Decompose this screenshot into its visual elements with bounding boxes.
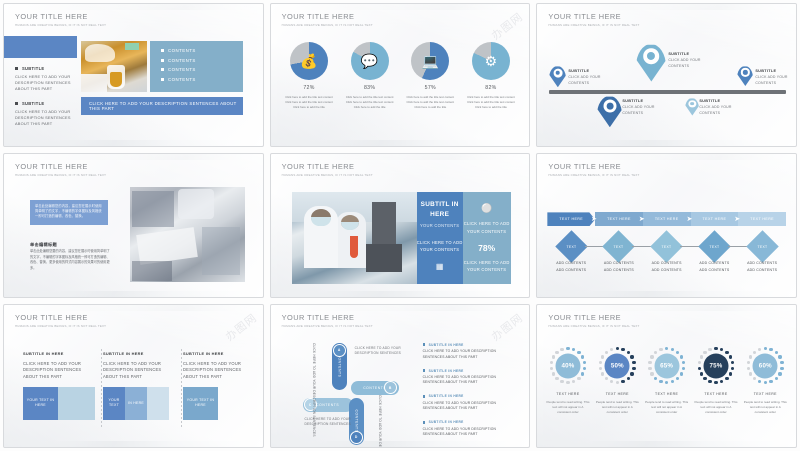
process-step-band[interactable]: TEXT HERE (691, 212, 739, 226)
pin-heading: SUBTITLE (668, 52, 714, 56)
panel-body-top: CLICK HERE TO ADD YOUR CONTENTS (463, 220, 511, 235)
progress-dot (659, 380, 662, 383)
pin-heading: SUBTITLE (622, 99, 668, 103)
quote-text: 单击此处编辑您的内容，建议您在展示时使用简单明了的文字，不编辑的字体图标及风格统… (35, 204, 103, 219)
donut-ring: 75% (697, 347, 735, 385)
donut-heading: TEXT HERE (741, 392, 789, 396)
title-text: YOUR TITLE HERE (548, 12, 639, 21)
pin-body: CLICK ADD YOUR CONTENTS (699, 105, 745, 116)
block-heading: SUBTITLE IN HERE (423, 369, 511, 373)
progress-dot (550, 361, 553, 364)
step-caption: ADD CONTENTSADD CONTENTS (738, 260, 786, 273)
progress-dot (749, 355, 752, 358)
pin-body: CLICK ADD YOUR CONTENTS (568, 75, 614, 86)
knob-label: D (355, 435, 357, 439)
progress-dot (780, 361, 783, 364)
left-text-blocks: SUBTITLE CLICK HERE TO ADD YOUR DESCRIPT… (15, 66, 77, 127)
donut-stat-item[interactable]: 60%TEXT HEREPeople tend to read writing.… (741, 347, 789, 415)
map-pin-icon[interactable] (549, 66, 566, 87)
chat-bubble-icon: 💬 (351, 42, 389, 80)
page-title: YOUR TITLE HERE HUMANS ARE CREATIVE BEIN… (15, 12, 106, 27)
progress-dot (659, 348, 662, 351)
progress-dot (583, 367, 586, 370)
progress-dot (775, 351, 778, 354)
subtitle-text: HUMANS ARE CREATIVE BEINGS, IF IT IS NOT… (15, 23, 106, 27)
content-column: SUBTITLE IN HERECLICK HERE TO ADD YOUR D… (23, 351, 95, 420)
diamond-node[interactable]: TEXT (643, 234, 691, 258)
donut-stat-item[interactable]: 65%TEXT HEREPeople tend to read writing.… (643, 347, 691, 415)
list-item[interactable]: CONTENTS (168, 67, 243, 72)
panel-subtitle: YOUR CONTENTS (420, 223, 459, 228)
slide-7[interactable]: YOUR TITLE HERE HUMANS ARE CREATIVE BEIN… (3, 304, 264, 448)
slide-3[interactable]: YOUR TITLE HERE HUMANS ARE CREATIVE BEIN… (536, 3, 797, 147)
pie-description: Click here to add the title text content… (279, 95, 339, 109)
progress-dot (753, 351, 756, 354)
progress-dot (648, 361, 651, 364)
progress-dot (621, 380, 624, 383)
donut-percent: 40% (561, 362, 574, 369)
progress-dot (729, 355, 732, 358)
progress-dot (680, 355, 683, 358)
panel-body: CLICK HERE TO ADD YOUR CONTENTS (417, 239, 463, 253)
step-caption: ADD CONTENTSADD CONTENTS (643, 260, 691, 273)
donut-percent: 60% (759, 362, 772, 369)
watermark: 办图网 (488, 309, 526, 344)
step-caption: ADD CONTENTSADD CONTENTS (547, 260, 595, 273)
tile-row: YOUR TEXT IN HERE (183, 387, 255, 420)
progress-dot (650, 372, 653, 375)
pie-chart: 💻 (411, 42, 449, 80)
progress-dot (599, 367, 602, 370)
right-text-blocks: SUBTITLE IN HERE CLICK HERE TO ADD YOUR … (423, 343, 511, 447)
donut-percent: 65% (660, 362, 673, 369)
progress-dot (700, 372, 703, 375)
caption-line: ADD CONTENTS (595, 267, 643, 273)
progress-dot (720, 348, 723, 351)
progress-dot (731, 361, 734, 364)
progress-dot (680, 372, 683, 375)
pie-stat-item[interactable]: 💬83%Click here to add the title text con… (340, 42, 400, 109)
column-body: CLICK HERE TO ADD YOUR DESCRIPTION SENTE… (103, 361, 175, 381)
panel-body-bottom: CLICK HERE TO ADD YOUR CONTENTS (463, 259, 511, 274)
pie-description: Click here to add the title text content… (461, 95, 521, 109)
description-banner[interactable]: CLICK HERE TO ADD YOUR DESCRIPTION SENTE… (81, 97, 243, 115)
progress-dot (769, 380, 772, 383)
pie-stat-item[interactable]: 💰72%Click here to add the title text con… (279, 42, 339, 109)
progress-dot (708, 348, 711, 351)
block-body: CLICK HERE TO ADD YOUR DESCRIPTION SENTE… (15, 109, 77, 127)
arrow-right-icon: ➤ (639, 215, 645, 223)
donut-ring: 60% (746, 347, 784, 385)
process-band: TEXT HERE➤TEXT HERE➤TEXT HERE➤TEXT HERE➤… (547, 212, 786, 226)
progress-dot (621, 348, 624, 351)
pin-heading: SUBTITLE (699, 99, 745, 103)
pie-percent: 82% (461, 85, 521, 91)
list-item[interactable]: CONTENTS (168, 77, 243, 82)
progress-dot (753, 377, 756, 380)
progress-dot (555, 377, 558, 380)
lightbulb-icon: ⚪ (481, 203, 492, 214)
text-tile[interactable]: YOUR TEXT IN HERE (183, 387, 218, 420)
pill-knob-a[interactable]: A (333, 344, 346, 357)
page-title: YOUR TITLE HERE HUMANS ARE CREATIVE BEIN… (15, 162, 106, 177)
block-body: CLICK HERE TO ADD YOUR DESCRIPTION SENTE… (423, 375, 511, 386)
progress-dot (581, 372, 584, 375)
head-gear-icon: ⚙ (472, 42, 510, 80)
donut-heading: TEXT HERE (692, 392, 740, 396)
progress-dot (566, 381, 569, 384)
map-pin-icon[interactable] (685, 98, 699, 116)
caption-line: ADD CONTENTS (547, 267, 595, 273)
progress-dot (572, 380, 575, 383)
progress-dot (610, 380, 613, 383)
progress-dot (632, 367, 635, 370)
subtitle-text: HUMANS ARE CREATIVE BEINGS, IF IT IS NOT… (548, 324, 639, 328)
progress-dot (714, 347, 717, 350)
page-title: YOUR TITLE HERE HUMANS ARE CREATIVE BEIN… (282, 162, 373, 177)
donut-heading: TEXT HERE (643, 392, 691, 396)
block-heading: SUBTITLE IN HERE (423, 394, 511, 398)
lab-photo (81, 41, 147, 92)
page-title: YOUR TITLE HERE HUMANS ARE CREATIVE BEIN… (548, 313, 639, 328)
subtitle-text: HUMANS ARE CREATIVE BEINGS, IF IT IS NOT… (548, 23, 639, 27)
money-bag-icon: 💰 (290, 42, 328, 80)
block-heading: SUBTITLE IN HERE (423, 420, 511, 424)
progress-dot (616, 347, 619, 350)
progress-dot (601, 372, 604, 375)
band-label: TEXT HERE (655, 217, 679, 221)
knob-label: A (338, 348, 340, 352)
progress-dot (671, 348, 674, 351)
subtitle-text: HUMANS ARE CREATIVE BEINGS, IF IT IS NOT… (282, 324, 373, 328)
section-body: 单击此处编辑您要的内容，建议您在展示时使用简单明了的文字，不编辑的字体图标及风格… (30, 249, 110, 271)
page-title: YOUR TITLE HERE HUMANS ARE CREATIVE BEIN… (548, 12, 639, 27)
progress-dot (610, 348, 613, 351)
donut-stat-item[interactable]: 75%TEXT HEREPeople tend to read writing.… (692, 347, 740, 415)
pin-heading: SUBTITLE (568, 69, 614, 73)
map-pin-icon[interactable] (597, 96, 622, 127)
pie-stat-item[interactable]: ⚙82%Click here to add the title text con… (461, 42, 521, 109)
list-item[interactable]: CONTENTS (168, 48, 243, 53)
diamond-node[interactable]: TEXT (547, 234, 595, 258)
progress-dot (682, 367, 685, 370)
donut-heading: TEXT HERE (544, 392, 592, 396)
donut-body: People tend to read writing. This text w… (593, 400, 641, 415)
secondary-panel: ⚪ CLICK HERE TO ADD YOUR CONTENTS 78% CL… (463, 192, 511, 284)
callout-horizontal-1: CLICK HERE TO ADD YOUR DESCRIPTION SENTE… (355, 346, 421, 356)
subtitle-text: HUMANS ARE CREATIVE BEINGS, IF IT IS NOT… (15, 324, 106, 328)
donut-percent: 75% (709, 362, 722, 369)
progress-dot (616, 381, 619, 384)
laptop-icon: 💻 (411, 42, 449, 80)
list-item[interactable]: CONTENTS (168, 58, 243, 63)
pie-chart: 💬 (351, 42, 389, 80)
progress-dot (665, 381, 668, 384)
diamond-label: TEXT (662, 244, 672, 248)
pin-body: CLICK ADD YOUR CONTENTS (622, 105, 668, 116)
progress-dot (581, 355, 584, 358)
progress-dot (665, 347, 668, 350)
diamond-node[interactable]: TEXT (595, 234, 643, 258)
page-title: YOUR TITLE HERE HUMANS ARE CREATIVE BEIN… (548, 162, 639, 177)
column-body: CLICK HERE TO ADD YOUR DESCRIPTION SENTE… (23, 361, 95, 381)
title-text: YOUR TITLE HERE (282, 313, 373, 322)
column-heading: SUBTITLE IN HERE (23, 351, 95, 356)
progress-dot (729, 372, 732, 375)
text-tile[interactable]: YOUR TEXT IN HERE (23, 387, 58, 420)
step-caption: ADD CONTENTSADD CONTENTS (691, 260, 739, 273)
donut-stat-item[interactable]: 40%TEXT HEREPeople tend to read writing.… (544, 347, 592, 415)
progress-dot (747, 367, 750, 370)
progress-dot (747, 361, 750, 364)
progress-dot (552, 372, 555, 375)
pie-description: Click here to add the title text content… (340, 95, 400, 109)
column-body: CLICK HERE TO ADD YOUR DESCRIPTION SENTE… (183, 361, 255, 381)
text-block: SUBTITLE IN HERE CLICK HERE TO ADD YOUR … (423, 369, 511, 386)
caption-line: ADD CONTENTS (643, 267, 691, 273)
slide-2[interactable]: YOUR TITLE HERE HUMANS ARE CREATIVE BEIN… (270, 3, 531, 147)
diamond-row: TEXTTEXTTEXTTEXTTEXT (547, 234, 786, 258)
subtitle-text: HUMANS ARE CREATIVE BEINGS, IF IT IS NOT… (282, 173, 373, 177)
progress-dot (775, 377, 778, 380)
progress-dot (552, 355, 555, 358)
block-body: CLICK HERE TO ADD YOUR DESCRIPTION SENTE… (423, 401, 511, 412)
progress-dot (731, 367, 734, 370)
text-block: SUBTITLE IN HERE CLICK HERE TO ADD YOUR … (423, 343, 511, 360)
page-title: YOUR TITLE HERE HUMANS ARE CREATIVE BEIN… (282, 313, 373, 328)
progress-dot (671, 380, 674, 383)
description-banner-text: CLICK HERE TO ADD YOUR DESCRIPTION SENTE… (89, 101, 243, 111)
slide-9[interactable]: YOUR TITLE HERE HUMANS ARE CREATIVE BEIN… (536, 304, 797, 448)
caption-line: ADD CONTENTS (691, 267, 739, 273)
diamond-label: TEXT (614, 244, 624, 248)
donut-body: People tend to read writing. This text w… (692, 400, 740, 415)
slide-8[interactable]: YOUR TITLE HERE HUMANS ARE CREATIVE BEIN… (270, 304, 531, 448)
scientists-photo (292, 192, 417, 284)
arrow-right-icon: ➤ (734, 215, 740, 223)
pin-label: SUBTITLECLICK ADD YOUR CONTENTS (568, 69, 614, 86)
meeting-photo (130, 187, 245, 282)
donut-body: People tend to read writing. This text w… (544, 400, 592, 415)
progress-dot (725, 377, 728, 380)
progress-dot (764, 381, 767, 384)
progress-dot (780, 367, 783, 370)
text-tile[interactable] (147, 387, 169, 420)
progress-dot (648, 367, 651, 370)
progress-dot (778, 372, 781, 375)
donut-body: People tend to read writing. This text w… (643, 400, 691, 415)
progress-dot (632, 361, 635, 364)
map-pin-icon[interactable] (636, 44, 666, 82)
pill-knob-f[interactable]: B (384, 381, 397, 394)
diamond-node[interactable]: TEXT (738, 234, 786, 258)
pill-label: CONTENTS (337, 355, 341, 378)
progress-dot (778, 355, 781, 358)
progress-dot (698, 361, 701, 364)
tile-row: YOUR TEXTIN HERE (103, 387, 175, 420)
progress-dot (703, 377, 706, 380)
map-pin-icon[interactable] (737, 66, 753, 86)
slide-deck-grid: YOUR TITLE HERE HUMANS ARE CREATIVE BEIN… (0, 0, 800, 451)
title-text: YOUR TITLE HERE (15, 162, 106, 171)
progress-dot (566, 347, 569, 350)
pin-body: CLICK ADD YOUR CONTENTS (755, 75, 797, 86)
progress-dot (758, 348, 761, 351)
pie-description: Click here to add the title text content… (400, 95, 460, 109)
title-text: YOUR TITLE HERE (548, 162, 639, 171)
progress-dot (650, 355, 653, 358)
knob-label: B (389, 386, 391, 390)
column-heading: SUBTITLE IN HERE (183, 351, 255, 356)
slide-4[interactable]: YOUR TITLE HERE HUMANS ARE CREATIVE BEIN… (3, 153, 264, 297)
title-text: YOUR TITLE HERE (548, 313, 639, 322)
title-text: YOUR TITLE HERE (282, 12, 373, 21)
pin-label: SUBTITLECLICK ADD YOUR CONTENTS (622, 99, 668, 116)
text-block: SUBTITLE IN HERE CLICK HERE TO ADD YOUR … (423, 394, 511, 411)
donut-ring: 50% (598, 347, 636, 385)
pin-heading: SUBTITLE (755, 69, 797, 73)
block-body: CLICK HERE TO ADD YOUR DESCRIPTION SENTE… (423, 427, 511, 438)
step-caption: ADD CONTENTSADD CONTENTS (595, 260, 643, 273)
donut-stat-item[interactable]: 50%TEXT HEREPeople tend to read writing.… (593, 347, 641, 415)
progress-dot (550, 367, 553, 370)
band-label: TEXT HERE (559, 217, 583, 221)
pin-label: SUBTITLECLICK ADD YOUR CONTENTS (755, 69, 797, 86)
page-title: YOUR TITLE HERE HUMANS ARE CREATIVE BEIN… (15, 313, 106, 328)
pill-label: CONTENTS (363, 386, 386, 390)
title-text: YOUR TITLE HERE (15, 313, 106, 322)
column-heading: SUBTITLE IN HERE (103, 351, 175, 356)
subtitle-text: HUMANS ARE CREATIVE BEINGS, IF IT IS NOT… (548, 173, 639, 177)
diamond-labels: ADD CONTENTSADD CONTENTSADD CONTENTSADD … (547, 260, 786, 273)
arrow-right-icon: ➤ (591, 215, 597, 223)
progress-dot (769, 348, 772, 351)
progress-dot (605, 377, 608, 380)
grid-icon: ▦ (436, 262, 444, 271)
donut-ring: 40% (549, 347, 587, 385)
progress-dot (682, 361, 685, 364)
watermark: 办图网 (222, 309, 260, 344)
progress-dot (577, 377, 580, 380)
donut-ring: 65% (648, 347, 686, 385)
title-text: YOUR TITLE HERE (15, 12, 106, 21)
pill-label: CONTENTS (316, 403, 339, 407)
donut-percent: 50% (611, 362, 624, 369)
block-heading: SUBTITLE (15, 101, 77, 106)
process-step-band[interactable]: TEXT HERE (643, 212, 691, 226)
diamond-label: TEXT (566, 244, 576, 248)
progress-dot (572, 348, 575, 351)
block-body: CLICK HERE TO ADD YOUR DESCRIPTION SENTE… (423, 349, 511, 360)
arrow-right-icon: ➤ (687, 215, 693, 223)
caption-line: ADD CONTENTS (738, 267, 786, 273)
progress-dot (627, 351, 630, 354)
progress-dot (700, 355, 703, 358)
block-body: CLICK HERE TO ADD YOUR DESCRIPTION SENTE… (15, 74, 77, 92)
contents-panel: CONTENTS CONTENTS CONTENTS CONTENTS (150, 41, 243, 92)
donut-heading: TEXT HERE (593, 392, 641, 396)
progress-dot (605, 351, 608, 354)
progress-dot (627, 377, 630, 380)
pin-label: SUBTITLECLICK ADD YOUR CONTENTS (668, 52, 714, 69)
process-step-band[interactable]: TEXT HERE (547, 212, 595, 226)
pill-knob-b[interactable]: D (350, 431, 363, 444)
band-label: TEXT HERE (607, 217, 631, 221)
pin-body: CLICK ADD YOUR CONTENTS (668, 58, 714, 69)
text-tile[interactable]: IN HERE (125, 387, 147, 420)
text-block: SUBTITLE IN HERE CLICK HERE TO ADD YOUR … (423, 420, 511, 437)
subtitle-text: HUMANS ARE CREATIVE BEINGS, IF IT IS NOT… (15, 173, 106, 177)
pie-percent: 57% (400, 85, 460, 91)
progress-dot (720, 380, 723, 383)
progress-dot (560, 348, 563, 351)
timeline-bar (549, 90, 786, 94)
progress-dot (703, 351, 706, 354)
page-title: YOUR TITLE HERE HUMANS ARE CREATIVE BEIN… (282, 12, 373, 27)
contents-list: CONTENTS CONTENTS CONTENTS CONTENTS (150, 41, 243, 82)
band-label: TEXT HERE (703, 217, 727, 221)
pie-chart: ⚙ (472, 42, 510, 80)
progress-dot (555, 351, 558, 354)
process-step-band[interactable]: TEXT HERE (595, 212, 643, 226)
diamond-label: TEXT (709, 244, 719, 248)
donut-body: People tend to read writing. This text w… (741, 400, 789, 415)
pie-chart: 💰 (290, 42, 328, 80)
progress-dot (676, 377, 679, 380)
subtitle-text: HUMANS ARE CREATIVE BEINGS, IF IT IS NOT… (282, 23, 373, 27)
band-label: TEXT HERE (750, 217, 774, 221)
section-heading: 单击编辑标题 (30, 242, 57, 248)
title-text: YOUR TITLE HERE (282, 162, 373, 171)
callout-horizontal-2: CLICK HERE TO ADD YOUR DESCRIPTION SENTE… (296, 417, 360, 427)
pie-stat-item[interactable]: 💻57%Click here to add the title text con… (400, 42, 460, 109)
progress-dot (654, 377, 657, 380)
block-heading: SUBTITLE (15, 66, 77, 71)
progress-dot (630, 355, 633, 358)
slide-6[interactable]: YOUR TITLE HERE HUMANS ARE CREATIVE BEIN… (536, 153, 797, 297)
tile-row: YOUR TEXT IN HERE (23, 387, 95, 420)
progress-dot (764, 347, 767, 350)
progress-dot (583, 361, 586, 364)
text-tile[interactable] (58, 387, 95, 420)
accent-bar (4, 36, 77, 58)
progress-dot (601, 355, 604, 358)
progress-dot (698, 367, 701, 370)
progress-dot (749, 372, 752, 375)
diamond-node[interactable]: TEXT (691, 234, 739, 258)
pin-label: SUBTITLECLICK ADD YOUR CONTENTS (699, 99, 745, 116)
pie-percent: 83% (340, 85, 400, 91)
progress-dot (758, 380, 761, 383)
progress-dot (560, 380, 563, 383)
content-column: SUBTITLE IN HERECLICK HERE TO ADD YOUR D… (183, 351, 255, 420)
pie-stat-row: 💰72%Click here to add the title text con… (279, 42, 522, 109)
progress-dot (577, 351, 580, 354)
slide-1[interactable]: YOUR TITLE HERE HUMANS ARE CREATIVE BEIN… (3, 3, 264, 147)
text-tile[interactable]: YOUR TEXT (103, 387, 125, 420)
primary-panel: SUBTITL IN HERE YOUR CONTENTS CLICK HERE… (417, 192, 463, 284)
callout-vertical-2: CLICK HERE TO ADD YOUR DESCRIPTION SENTE… (377, 395, 382, 448)
quote-box: 单击此处编辑您的内容，建议您在展示时使用简单明了的文字，不编辑的字体图标及风格统… (30, 200, 108, 225)
panel-title: SUBTITL IN HERE (417, 200, 463, 220)
process-step-band[interactable]: TEXT HERE (738, 212, 786, 226)
progress-dot (714, 381, 717, 384)
progress-dot (725, 351, 728, 354)
slide-5[interactable]: YOUR TITLE HERE HUMANS ARE CREATIVE BEIN… (270, 153, 531, 297)
progress-dot (654, 351, 657, 354)
watermark: 办图网 (488, 9, 526, 44)
content-column: SUBTITLE IN HERECLICK HERE TO ADD YOUR D… (103, 351, 175, 420)
